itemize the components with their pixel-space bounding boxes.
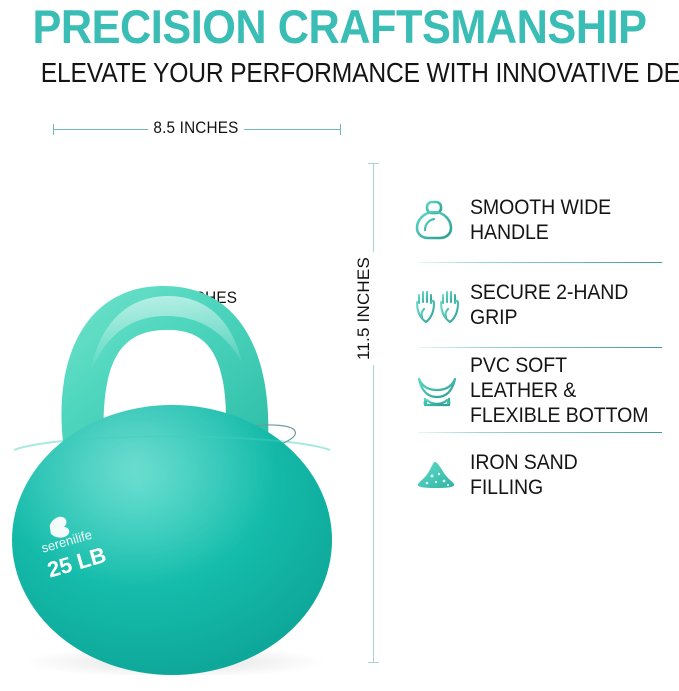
- height-dimension-line: [373, 163, 374, 663]
- feature-item-pvc-soft-leather: PVC SOFT LEATHER & FLEXIBLE BOTTOM: [414, 348, 666, 432]
- feature-label: SECURE 2-HAND GRIP: [470, 280, 652, 330]
- feature-item-smooth-wide-handle: SMOOTH WIDE HANDLE: [414, 178, 666, 262]
- feature-label: IRON SAND FILLING: [470, 450, 652, 500]
- flexible-bottom-icon: [414, 365, 470, 415]
- infographic-page: PRECISION CRAFTSMANSHIP ELEVATE YOUR PER…: [0, 0, 679, 691]
- feature-item-secure-2-hand-grip: SECURE 2-HAND GRIP: [414, 263, 666, 347]
- feature-label: SMOOTH WIDE HANDLE: [470, 195, 652, 245]
- feature-label: PVC SOFT LEATHER & FLEXIBLE BOTTOM: [470, 353, 652, 428]
- sand-pile-icon: [414, 450, 470, 500]
- page-subtitle: ELEVATE YOUR PERFORMANCE WITH INNOVATIVE…: [41, 57, 639, 89]
- kettlebell-icon: [414, 195, 470, 245]
- kettlebell-product-image: serenilife 25 LB: [0, 150, 360, 675]
- feature-list: SMOOTH WIDE HANDLE: [414, 178, 666, 517]
- page-title: PRECISION CRAFTSMANSHIP: [27, 2, 652, 52]
- two-hands-icon: [414, 280, 470, 330]
- feature-item-iron-sand-filling: IRON SAND FILLING: [414, 433, 666, 517]
- width-dimension-label: 8.5 INCHES: [148, 118, 244, 138]
